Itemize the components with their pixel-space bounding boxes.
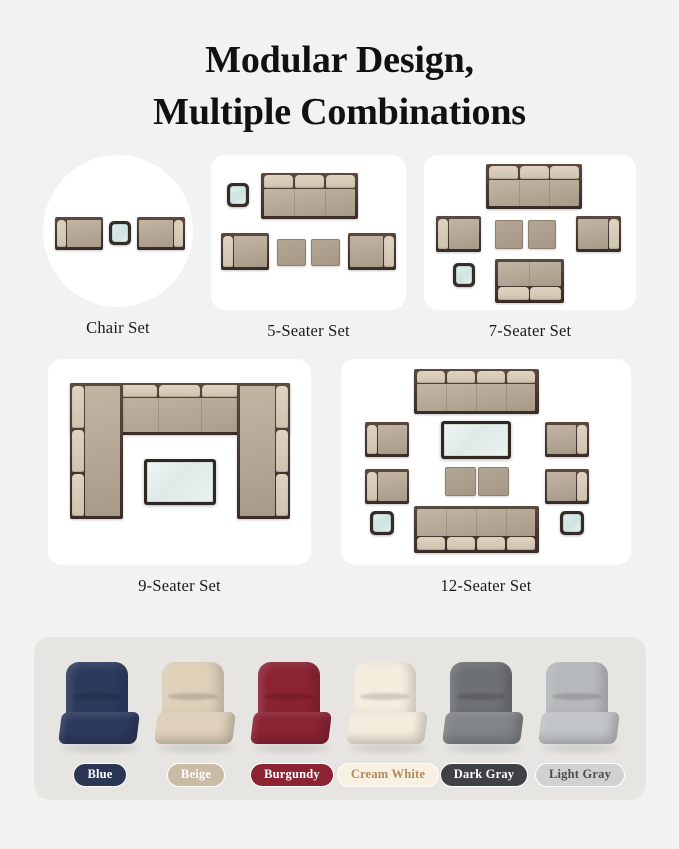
four-seat-sofa — [414, 506, 539, 553]
glass-coffee-table — [144, 459, 216, 505]
color-option-cream-white[interactable]: Cream White — [344, 662, 432, 787]
side-table — [370, 511, 394, 535]
page-title: Modular Design, Multiple Combinations — [0, 0, 679, 139]
config-card-5-seater-set[interactable] — [211, 155, 406, 310]
config-card-chair-set[interactable] — [43, 155, 193, 307]
config-5-seater-set[interactable]: 5-Seater Set — [211, 155, 406, 341]
config-9-seater-set[interactable]: 9-Seater Set — [48, 359, 311, 596]
armchair — [545, 422, 589, 457]
cushion-seat — [346, 712, 428, 744]
config-label-7-seater-set: 7-Seater Set — [489, 321, 572, 341]
color-label-burgundy[interactable]: Burgundy — [250, 763, 334, 787]
cushion-chair-icon — [442, 662, 526, 754]
ottoman — [311, 239, 340, 266]
layout-diagram-chair-set — [43, 155, 193, 307]
config-card-12-seater-set[interactable] — [341, 359, 631, 565]
cushion-chair-icon — [538, 662, 622, 754]
armchair — [221, 233, 269, 270]
config-label-9-seater-set: 9-Seater Set — [138, 576, 221, 596]
ottoman — [277, 239, 306, 266]
config-chair-set[interactable]: Chair Set — [43, 155, 193, 338]
color-label-light-gray[interactable]: Light Gray — [535, 763, 625, 787]
configuration-row-top: Chair Set — [0, 155, 679, 341]
layout-diagram-12-seater-set — [341, 359, 631, 565]
color-option-burgundy[interactable]: Burgundy — [248, 662, 336, 787]
cushion-chair-icon — [154, 662, 238, 754]
cushion-seat — [58, 712, 140, 744]
config-card-7-seater-set[interactable] — [424, 155, 636, 310]
two-seat-sofa — [495, 259, 564, 303]
ottoman — [478, 467, 509, 496]
color-option-dark-gray[interactable]: Dark Gray — [440, 662, 528, 787]
color-option-blue[interactable]: Blue — [56, 662, 144, 787]
three-seat-sofa — [486, 164, 582, 209]
color-option-light-gray[interactable]: Light Gray — [536, 662, 624, 787]
color-options-panel: Blue Beige Burgundy — [34, 637, 646, 800]
armchair — [55, 217, 103, 250]
sectional-left-run — [70, 383, 123, 519]
armchair — [137, 217, 185, 250]
cushion-chair-icon — [250, 662, 334, 754]
layout-diagram-7-seater-set — [424, 155, 636, 310]
glass-coffee-table — [441, 421, 511, 459]
side-table — [109, 221, 131, 245]
armchair — [545, 469, 589, 504]
side-table — [560, 511, 584, 535]
config-label-chair-set: Chair Set — [86, 318, 150, 338]
config-7-seater-set[interactable]: 7-Seater Set — [424, 155, 636, 341]
four-seat-sofa — [414, 369, 539, 414]
config-label-12-seater-set: 12-Seater Set — [440, 576, 531, 596]
page-title-line-1: Modular Design, — [0, 34, 679, 86]
armchair — [365, 469, 409, 504]
cushion-seat — [538, 712, 620, 744]
color-label-blue[interactable]: Blue — [73, 763, 126, 787]
cushion-seat — [442, 712, 524, 744]
layout-diagram-5-seater-set — [211, 155, 406, 310]
cushion-chair-icon — [346, 662, 430, 754]
three-seat-sofa — [261, 173, 358, 219]
layout-diagram-9-seater-set — [48, 359, 311, 565]
color-label-dark-gray[interactable]: Dark Gray — [440, 763, 528, 787]
ottoman — [495, 220, 523, 249]
color-swatch-grid: Blue Beige Burgundy — [34, 637, 646, 800]
armchair — [436, 216, 481, 252]
ottoman — [528, 220, 556, 249]
armchair — [348, 233, 396, 270]
armchair — [576, 216, 621, 252]
side-table — [227, 183, 249, 207]
config-12-seater-set[interactable]: 12-Seater Set — [341, 359, 631, 596]
cushion-seat — [154, 712, 236, 744]
config-label-5-seater-set: 5-Seater Set — [267, 321, 350, 341]
color-label-cream-white[interactable]: Cream White — [337, 763, 439, 787]
config-card-9-seater-set[interactable] — [48, 359, 311, 565]
color-label-beige[interactable]: Beige — [167, 763, 225, 787]
sectional-right-run — [237, 383, 290, 519]
cushion-seat — [250, 712, 332, 744]
configuration-row-bottom: 9-Seater Set — [0, 359, 679, 596]
ottoman — [445, 467, 476, 496]
color-option-beige[interactable]: Beige — [152, 662, 240, 787]
armchair — [365, 422, 409, 457]
side-table — [453, 263, 475, 287]
cushion-chair-icon — [58, 662, 142, 754]
page-title-line-2: Multiple Combinations — [0, 86, 679, 138]
